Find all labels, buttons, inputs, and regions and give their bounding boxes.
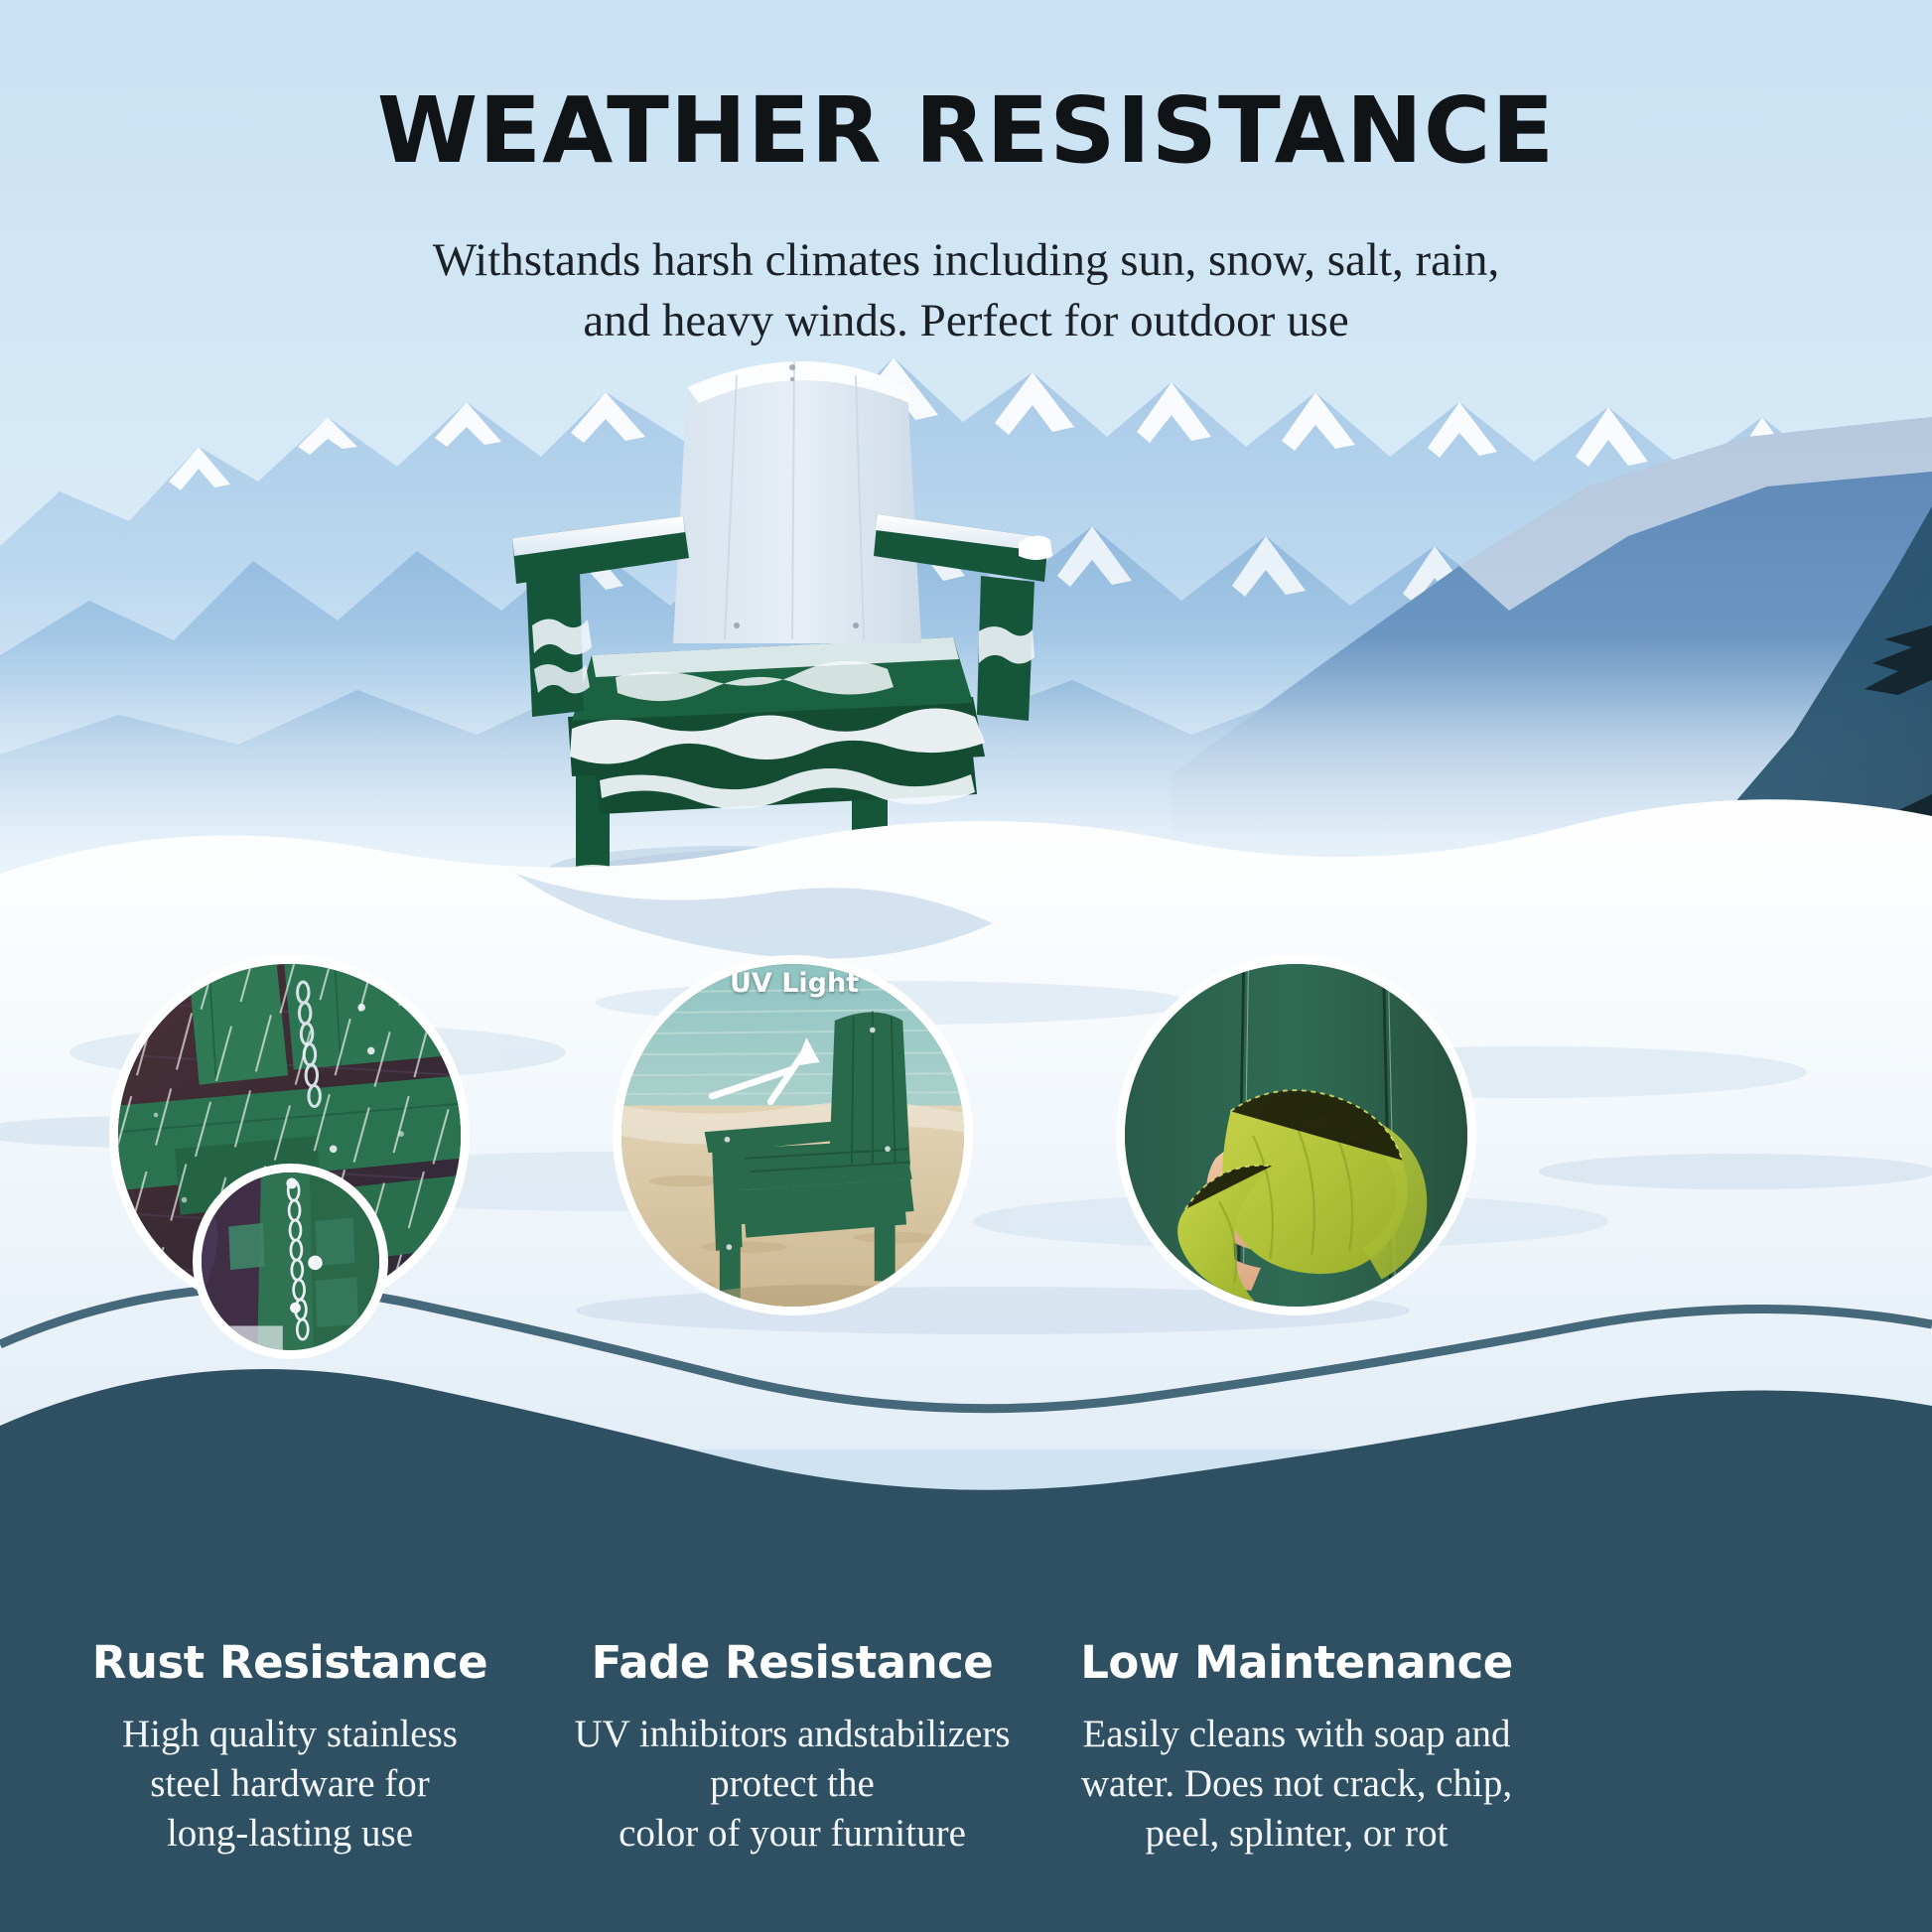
feature-body-line: long-lasting use: [44, 1809, 536, 1859]
feature-body-line: Easily cleans with soap and: [1033, 1710, 1561, 1759]
feature-body-line: peel, splinter, or rot: [1033, 1809, 1561, 1859]
page-subtitle: Withstands harsh climates including sun,…: [271, 230, 1661, 351]
feature-body-fade-resistance: UV inhibitors andstabilizers protect the…: [546, 1710, 1038, 1859]
feature-title-low-maintenance: Low Maintenance: [1070, 1636, 1523, 1689]
feature-body-low-maintenance: Easily cleans with soap and water. Does …: [1033, 1710, 1561, 1859]
hand-wiping-chair-photo: [1125, 964, 1467, 1307]
feature-body-rust-resistance: High quality stainless steel hardware fo…: [44, 1710, 536, 1859]
stainless-chain-closeup-photo: [202, 1173, 379, 1350]
feature-inset-stainless-chain[interactable]: [193, 1164, 388, 1359]
page-title: WEATHER RESISTANCE: [0, 85, 1932, 177]
feature-body-line: UV inhibitors andstabilizers: [546, 1710, 1038, 1759]
feature-image-fade-resistance[interactable]: [613, 955, 973, 1315]
feature-body-line: color of your furniture: [546, 1809, 1038, 1859]
feature-body-line: steel hardware for: [44, 1759, 536, 1809]
uv-light-label: UV Light: [730, 968, 859, 999]
beach-chair-uv-photo: [621, 964, 964, 1307]
subtitle-line-1: Withstands harsh climates including sun,…: [271, 230, 1661, 291]
feature-body-line: protect the: [546, 1759, 1038, 1809]
feature-body-line: High quality stainless: [44, 1710, 536, 1759]
feature-title-fade-resistance: Fade Resistance: [566, 1636, 1019, 1689]
weather-resistance-poster: WEATHER RESISTANCE Withstands harsh clim…: [0, 0, 1932, 1932]
subtitle-line-2: and heavy winds. Perfect for outdoor use: [271, 291, 1661, 351]
feature-title-rust-resistance: Rust Resistance: [64, 1636, 516, 1689]
feature-image-low-maintenance[interactable]: [1116, 955, 1476, 1315]
feature-body-line: water. Does not crack, chip,: [1033, 1759, 1561, 1809]
